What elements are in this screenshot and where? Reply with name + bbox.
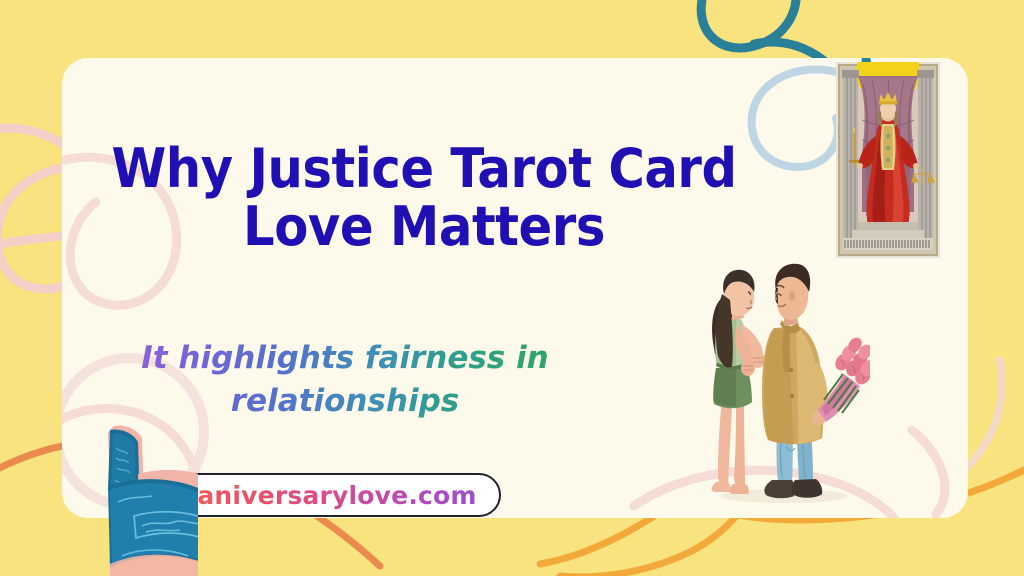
- website-badge-label: aniversarylove.com: [197, 481, 476, 510]
- subtitle-text: It highlights fairness in relationships: [110, 337, 580, 423]
- poster-canvas: Why Justice Tarot Card Love Matters It h…: [0, 0, 1024, 576]
- open-book-image: [18, 412, 198, 576]
- couple-with-roses-image: [692, 250, 870, 510]
- justice-tarot-card-image: [836, 62, 940, 258]
- page-title: Why Justice Tarot Card Love Matters: [111, 140, 737, 257]
- website-badge[interactable]: aniversarylove.com: [173, 473, 501, 517]
